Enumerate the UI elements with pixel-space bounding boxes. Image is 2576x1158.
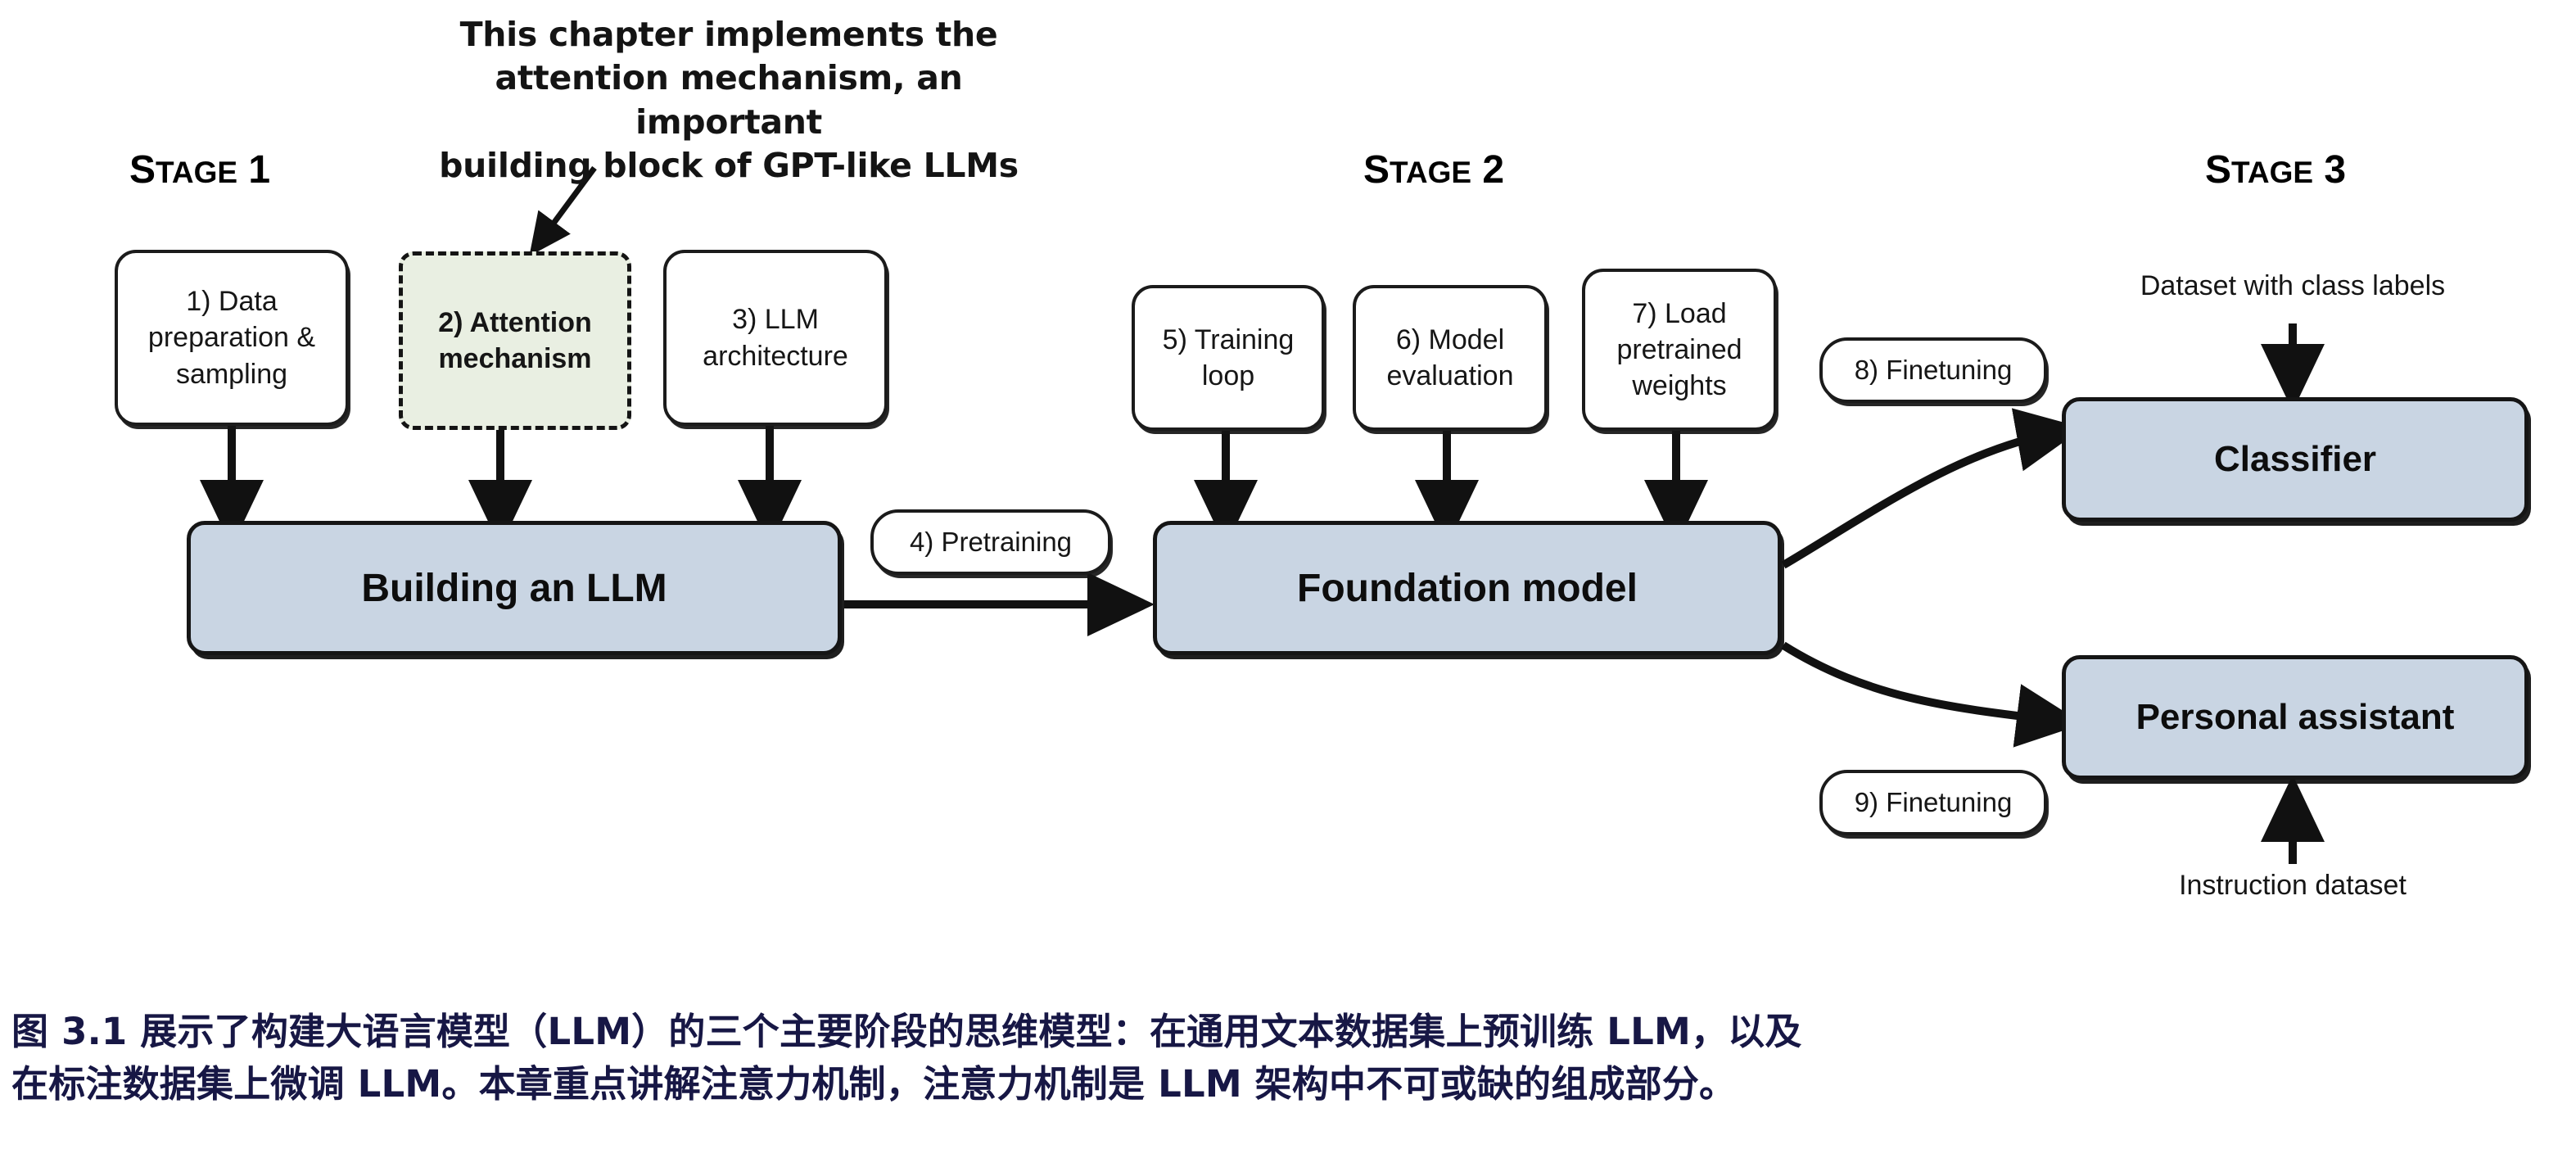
classifier-box[interactable]: Classifier: [2062, 397, 2529, 522]
stage-2-initial: S: [1363, 148, 1390, 192]
pill-finetuning-8-label: 8) Finetuning: [1855, 355, 2013, 386]
stage-2-header: STAGE 2: [1363, 147, 1504, 192]
annotation-line-3: building block of GPT-like LLMs: [426, 144, 1032, 188]
annotation-line-1: This chapter implements the: [426, 13, 1032, 57]
stage-3-num-value: 3: [2324, 148, 2346, 192]
stage-3-rest: TAGE: [2231, 156, 2313, 189]
pill-pretraining[interactable]: 4) Pretraining: [870, 509, 1111, 575]
step-box-attention-mechanism[interactable]: 2) Attention mechanism: [399, 251, 631, 430]
figure-caption-line-2: 在标注数据集上微调 LLM。本章重点讲解注意力机制，注意力机制是 LLM 架构中…: [11, 1058, 2558, 1111]
step-box-model-evaluation[interactable]: 6) Model evaluation: [1353, 285, 1548, 431]
stage-3-header: STAGE 3: [2205, 147, 2346, 192]
pill-pretraining-label: 4) Pretraining: [910, 527, 1072, 558]
classifier-label: Classifier: [2214, 439, 2376, 480]
stage-1-num-value: 1: [248, 148, 270, 192]
stage-1-initial: S: [129, 148, 156, 192]
building-an-llm-label: Building an LLM: [361, 566, 667, 611]
figure-caption-line-1: 图 3.1 展示了构建大语言模型（LLM）的三个主要阶段的思维模型：在通用文本数…: [11, 1006, 2558, 1058]
pill-finetuning-9[interactable]: 9) Finetuning: [1819, 770, 2047, 835]
pill-finetuning-8[interactable]: 8) Finetuning: [1819, 337, 2047, 403]
stage-1-rest: TAGE: [156, 156, 237, 189]
personal-assistant-label: Personal assistant: [2136, 697, 2455, 738]
step-box-training-loop[interactable]: 5) Training loop: [1132, 285, 1325, 431]
personal-assistant-box[interactable]: Personal assistant: [2062, 655, 2529, 780]
step-box-training-loop-label: 5) Training loop: [1148, 322, 1308, 394]
step-box-llm-architecture[interactable]: 3) LLM architecture: [663, 250, 888, 426]
chapter-annotation: This chapter implements the attention me…: [426, 13, 1032, 188]
step-box-attention-mechanism-label: 2) Attention mechanism: [416, 305, 614, 377]
foundation-model-label: Foundation model: [1297, 566, 1638, 611]
step-box-model-evaluation-label: 6) Model evaluation: [1367, 322, 1533, 394]
figure-root: This chapter implements the attention me…: [0, 0, 2576, 1158]
pill-finetuning-9-label: 9) Finetuning: [1855, 787, 2013, 818]
dataset-with-class-labels-text: Dataset with class labels: [2104, 270, 2481, 302]
stage-2-num-value: 2: [1482, 148, 1504, 192]
building-an-llm-box[interactable]: Building an LLM: [187, 521, 842, 655]
stage-3-initial: S: [2205, 148, 2231, 192]
instruction-dataset-text: Instruction dataset: [2104, 870, 2481, 902]
step-box-llm-architecture-label: 3) LLM architecture: [681, 301, 870, 373]
stage-1-header: STAGE 1: [129, 147, 270, 192]
step-box-data-preparation[interactable]: 1) Data preparation & sampling: [115, 250, 349, 426]
stage-3-space: [2313, 148, 2324, 192]
stage-2-space: [1471, 148, 1482, 192]
step-box-load-pretrained-weights[interactable]: 7) Load pretrained weights: [1582, 269, 1777, 431]
foundation-model-box[interactable]: Foundation model: [1153, 521, 1782, 655]
figure-caption: 图 3.1 展示了构建大语言模型（LLM）的三个主要阶段的思维模型：在通用文本数…: [11, 1006, 2558, 1111]
stage-2-rest: TAGE: [1390, 156, 1471, 189]
annotation-line-2: attention mechanism, an important: [426, 57, 1032, 144]
stage-1-number: [237, 148, 248, 192]
instruction-dataset-label: Instruction dataset: [2179, 870, 2407, 901]
step-box-load-pretrained-weights-label: 7) Load pretrained weights: [1597, 296, 1762, 405]
dataset-with-class-labels-label: Dataset with class labels: [2140, 270, 2445, 301]
step-box-data-preparation-label: 1) Data preparation & sampling: [133, 283, 331, 392]
